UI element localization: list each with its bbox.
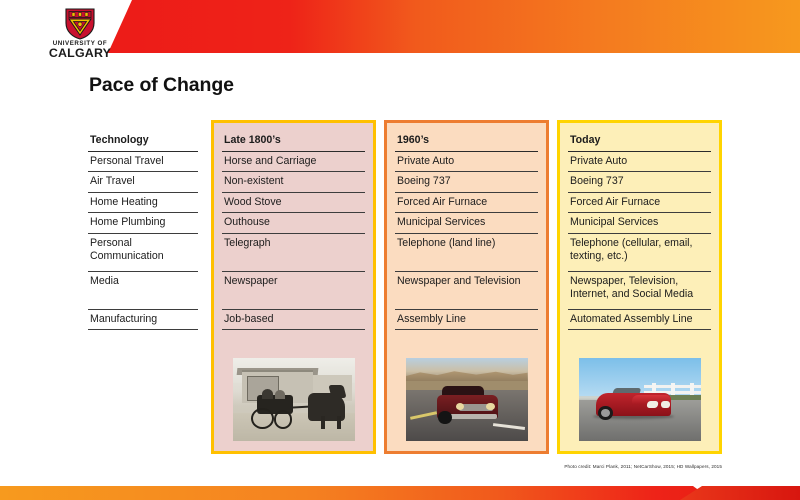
photo-slot (560, 352, 719, 451)
table-row: Forced Air Furnace (395, 193, 538, 214)
table-row: Home Heating (88, 193, 198, 214)
column-today-rows: Today Private Auto Boeing 737 Forced Air… (560, 131, 719, 330)
table-row: Horse and Carriage (222, 152, 365, 173)
table-row: Newspaper (222, 272, 365, 310)
table-row: Outhouse (222, 213, 365, 234)
table-row: Media (88, 272, 198, 310)
photo-slot (214, 352, 373, 451)
photo-slot (387, 352, 546, 451)
table-row: Automated Assembly Line (568, 310, 711, 331)
table-row: Manufacturing (88, 310, 198, 331)
column-1960s-rows: 1960’s Private Auto Boeing 737 Forced Ai… (387, 131, 546, 330)
logo-wordmark: UNIVERSITY OF CALGARY (44, 41, 116, 60)
column-header: Technology (88, 131, 198, 152)
footer-accent-shape (680, 486, 800, 500)
university-logo: UNIVERSITY OF CALGARY (44, 6, 116, 62)
table-row: Home Plumbing (88, 213, 198, 234)
column-technology-rows: Technology Personal Travel Air Travel Ho… (88, 131, 198, 330)
table-row: Boeing 737 (395, 172, 538, 193)
column-header: Late 1800’s (222, 131, 365, 152)
table-row: Telephone (land line) (395, 234, 538, 272)
classic-mustang-photo (406, 358, 528, 441)
table-row: Newspaper and Television (395, 272, 538, 310)
column-late-1800s: Late 1800’s Horse and Carriage Non-exist… (211, 120, 376, 454)
footer-banner (0, 486, 800, 500)
column-today: Today Private Auto Boeing 737 Forced Air… (557, 120, 722, 454)
column-header: Today (568, 131, 711, 152)
table-row: Telegraph (222, 234, 365, 272)
column-technology: Technology Personal Travel Air Travel Ho… (88, 120, 198, 454)
header-gradient-shape (108, 0, 800, 53)
header-banner (0, 0, 800, 53)
table-row: Assembly Line (395, 310, 538, 331)
logo-line-2: CALGARY (44, 47, 116, 59)
table-row: Non-existent (222, 172, 365, 193)
page-title: Pace of Change (89, 74, 234, 97)
table-row: Job-based (222, 310, 365, 331)
table-row: Personal Communication (88, 234, 198, 272)
photo-credit: Photo credit: Marci Plank, 2011; NetCarS… (564, 464, 722, 469)
table-row: Newspaper, Television, Internet, and Soc… (568, 272, 711, 310)
modern-mustang-photo (579, 358, 701, 441)
table-row: Wood Stove (222, 193, 365, 214)
table-row: Air Travel (88, 172, 198, 193)
footer-gradient-shape (0, 486, 800, 500)
table-row: Boeing 737 (568, 172, 711, 193)
table-row: Municipal Services (395, 213, 538, 234)
column-late-1800s-rows: Late 1800’s Horse and Carriage Non-exist… (214, 131, 373, 330)
column-1960s: 1960’s Private Auto Boeing 737 Forced Ai… (384, 120, 549, 454)
slide: UNIVERSITY OF CALGARY Pace of Change Tec… (0, 0, 800, 500)
table-row: Telephone (cellular, email, texting, etc… (568, 234, 711, 272)
table-row: Personal Travel (88, 152, 198, 173)
table-row: Private Auto (568, 152, 711, 173)
table-row: Private Auto (395, 152, 538, 173)
horse-and-carriage-photo (233, 358, 355, 441)
comparison-table: Technology Personal Travel Air Travel Ho… (88, 120, 748, 454)
table-row: Municipal Services (568, 213, 711, 234)
shield-crest-icon (63, 6, 97, 40)
column-header: 1960’s (395, 131, 538, 152)
table-row: Forced Air Furnace (568, 193, 711, 214)
